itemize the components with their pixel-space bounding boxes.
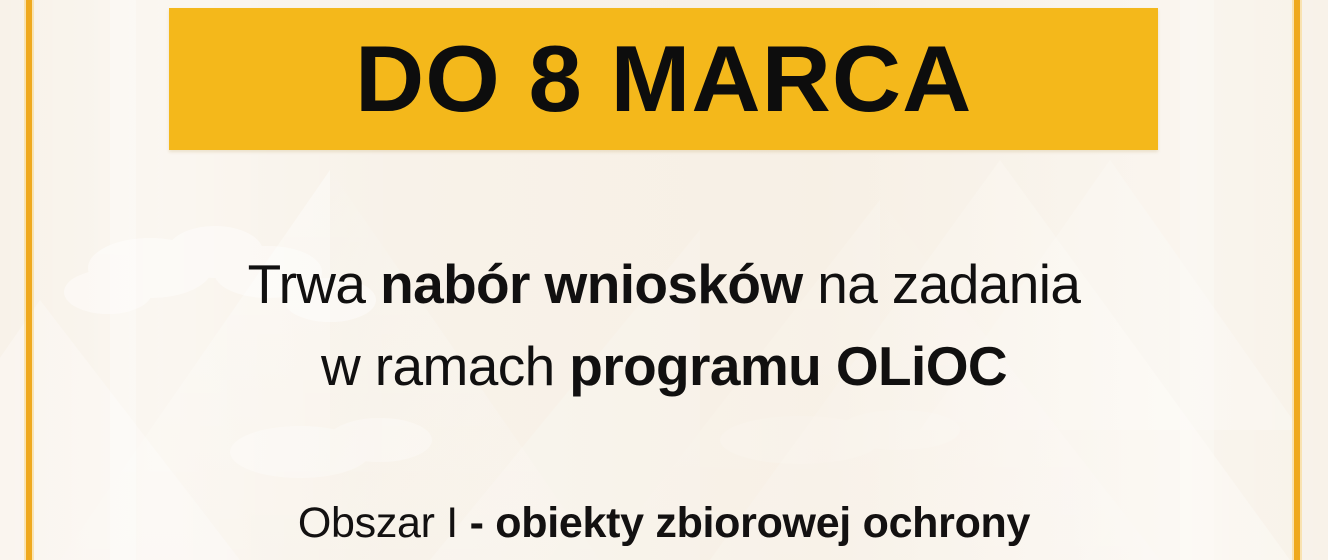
subheading: Obszar I - obiekty zbiorowej ochrony (34, 497, 1294, 549)
body-line-2-part-1: w ramach (321, 335, 569, 397)
body-copy: Trwa nabór wniosków na zadania w ramach … (34, 243, 1294, 407)
body-line-2-strong-1: programu OLiOC (569, 335, 1007, 397)
body-line-1-part-1: Trwa (248, 253, 380, 315)
headline-text: DO 8 MARCA (355, 32, 972, 126)
headline-banner: DO 8 MARCA (169, 8, 1158, 150)
left-gold-rule (26, 0, 32, 560)
subheading-strong-1: - obiekty zbiorowej ochrony (470, 499, 1031, 547)
body-line-1: Trwa nabór wniosków na zadania (34, 243, 1294, 325)
subheading-part-1: Obszar I (298, 499, 470, 547)
poster-canvas: DO 8 MARCA Trwa nabór wniosków na zadani… (0, 0, 1328, 560)
right-gold-rule (1294, 0, 1300, 560)
body-line-2: w ramach programu OLiOC (34, 325, 1294, 407)
body-line-1-strong-1: nabór wniosków (380, 253, 802, 315)
body-line-1-part-2: na zadania (803, 253, 1081, 315)
